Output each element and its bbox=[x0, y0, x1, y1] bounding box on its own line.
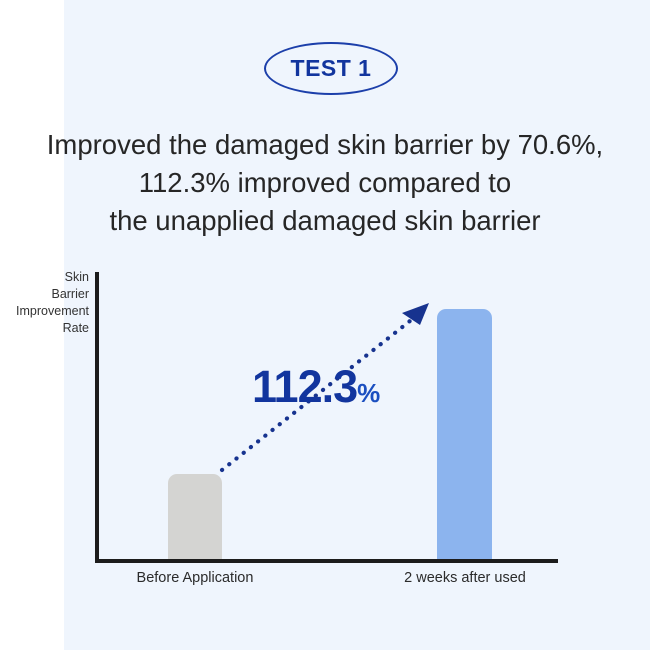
improvement-value-unit: % bbox=[357, 378, 380, 408]
improvement-value-callout: 112.3% bbox=[252, 364, 380, 409]
infographic-page: TEST 1 Improved the damaged skin barrier… bbox=[0, 0, 650, 650]
dotted-arrow-icon bbox=[0, 0, 650, 650]
bar-chart: Skin Barrier Improvement Rate Before App… bbox=[0, 0, 650, 650]
improvement-value-number: 112.3 bbox=[252, 361, 357, 412]
